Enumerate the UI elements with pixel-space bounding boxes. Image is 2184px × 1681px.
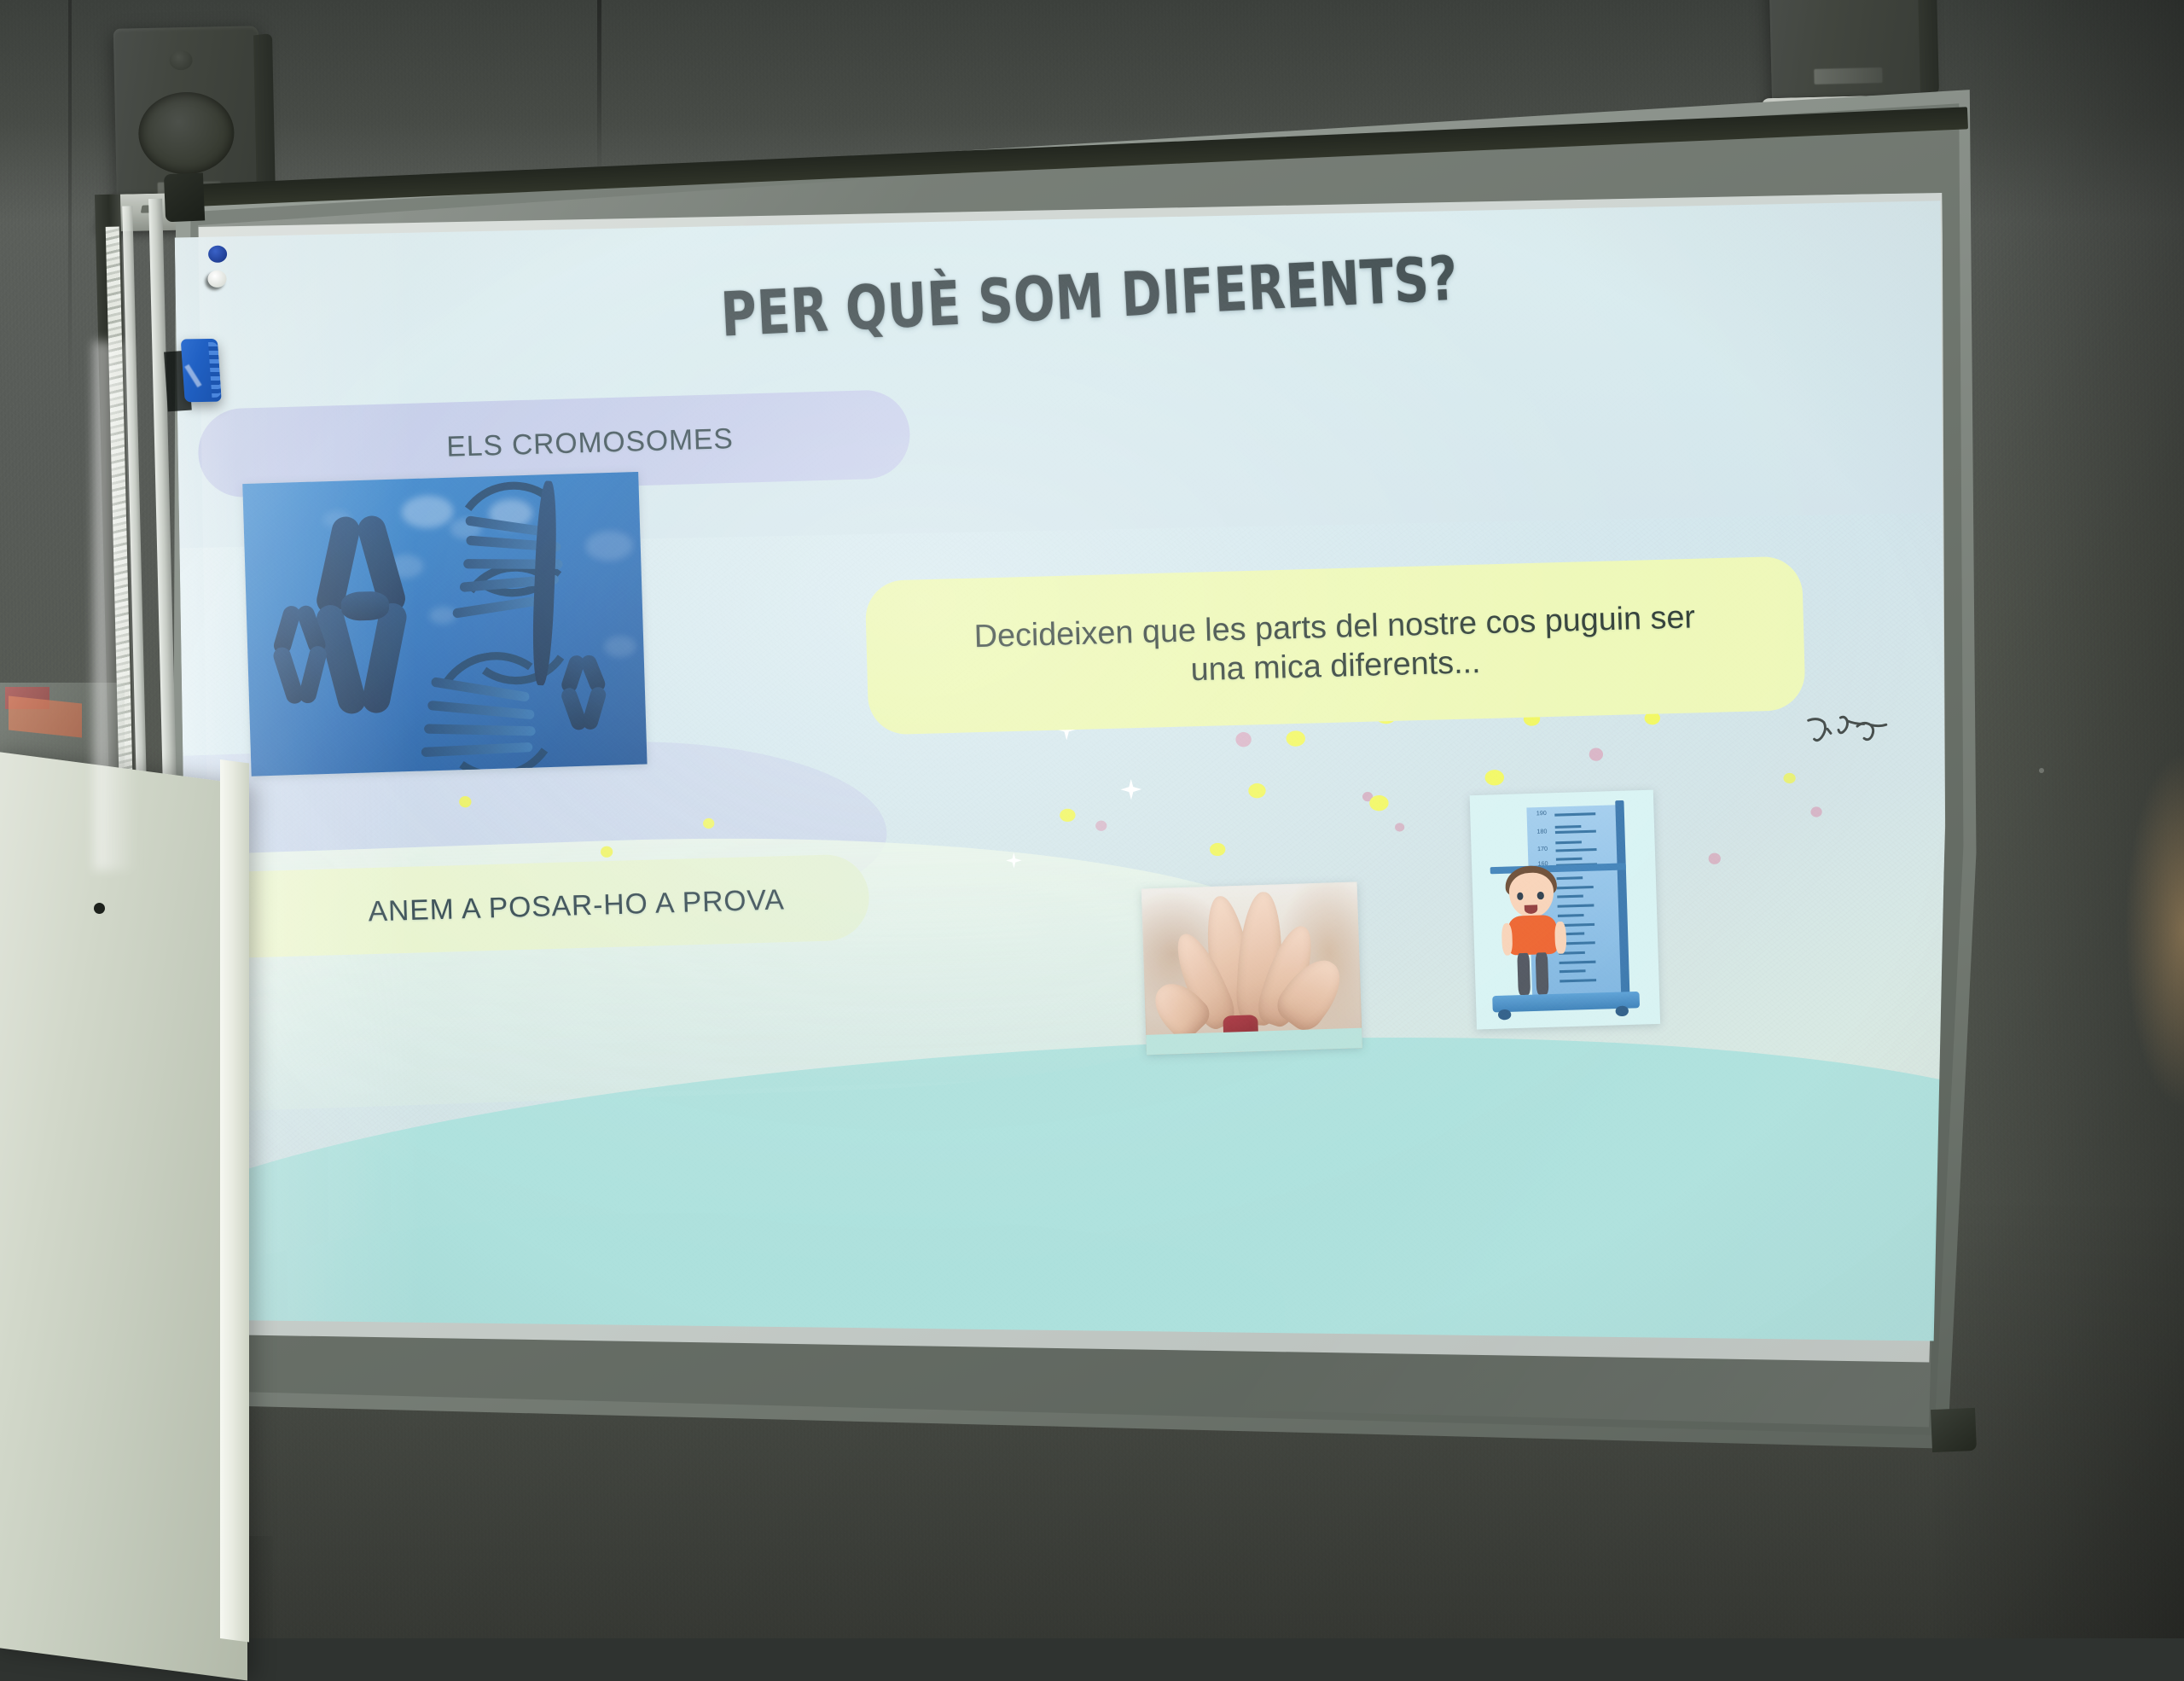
confetti-dot-yellow: [1369, 795, 1389, 811]
confetti-dot-yellow: [1484, 770, 1504, 786]
boy-arm: [1554, 922, 1566, 955]
confetti-dot-pink: [1811, 806, 1822, 817]
bokeh-dot: [585, 531, 634, 561]
hands-together-photo: [1141, 882, 1363, 1056]
confetti-dot-pink: [1095, 820, 1107, 830]
note-line-1: Decideixen que les parts del nostre cos …: [974, 599, 1696, 654]
confetti-dot-yellow: [1060, 809, 1076, 822]
chromosome-arm-small: [581, 686, 608, 733]
boy-shirt: [1508, 915, 1557, 956]
boy-stadiometer-illustration: 190 180 170 160: [1470, 790, 1661, 1030]
note-box-decideixen[interactable]: Decideixen que les parts del nostre cos …: [865, 556, 1806, 736]
confetti-dot-yellow: [1286, 730, 1305, 747]
boy-leg: [1517, 953, 1531, 996]
wall-vertical-seam: [68, 0, 72, 401]
boy-leg: [1535, 952, 1549, 995]
confetti-dot-yellow: [601, 846, 613, 858]
pill-label-test-it: ANEM A POSAR-HO A PROVA: [368, 882, 785, 928]
confetti-dot-pink: [1589, 747, 1602, 760]
cabinet-edge-highlight: [220, 759, 249, 1642]
confetti-star-white: [1120, 779, 1141, 800]
board-corner-cap-bottom-right: [1931, 1408, 1977, 1452]
confetti-dot-yellow: [1210, 842, 1226, 855]
confetti-dot-pink: [1235, 732, 1252, 747]
projected-slide[interactable]: PER QUÈ SOM DIFERENTS? ELS CROMOSOMES: [175, 201, 1959, 1375]
whiteboard-eraser[interactable]: [181, 339, 222, 402]
stadiometer-wheel: [1616, 1006, 1629, 1017]
bokeh-dot: [402, 495, 455, 529]
dust-speck: [2039, 768, 2044, 773]
warm-window-glow: [2124, 751, 2184, 1109]
stadiometer-label: 180: [1536, 829, 1547, 835]
chromosome-dna-illustration: [242, 472, 648, 777]
confetti-dot-pink: [1709, 853, 1721, 864]
light-leak: [94, 341, 136, 870]
stadiometer-label: 170: [1537, 846, 1548, 852]
boy-eye: [1517, 892, 1524, 900]
speaker-brand-logo: [1815, 67, 1883, 84]
cabinet-screw-hole: [94, 903, 105, 914]
chromosome-centromere: [341, 590, 390, 621]
boy-eye: [1536, 892, 1543, 900]
eraser-brand-label: [185, 364, 202, 387]
slide-content: PER QUÈ SOM DIFERENTS? ELS CROMOSOMES: [175, 201, 1959, 1375]
speaker-side-panel: [1917, 0, 1939, 96]
confetti-dot-yellow: [1783, 773, 1795, 783]
board-corner-cap-top-left: [164, 173, 205, 223]
note-text: Decideixen que les parts del nostre cos …: [973, 597, 1697, 695]
note-line-2: una mica diferents...: [1190, 644, 1481, 688]
stadiometer-wheel: [1498, 1009, 1511, 1021]
pill-label-chromosomes: ELS CROMOSOMES: [446, 422, 734, 463]
confetti-dot-yellow: [703, 818, 714, 829]
chromosome-arm-small: [297, 644, 328, 706]
confetti-dot-yellow: [1248, 783, 1266, 799]
stadiometer-label: 190: [1536, 811, 1547, 817]
confetti-dot-pink: [1395, 823, 1404, 832]
interactive-whiteboard[interactable]: PER QUÈ SOM DIFERENTS? ELS CROMOSOMES: [160, 88, 1999, 1481]
bokeh-dot: [604, 636, 636, 657]
foreground-cabinet-panel: [0, 751, 247, 1680]
